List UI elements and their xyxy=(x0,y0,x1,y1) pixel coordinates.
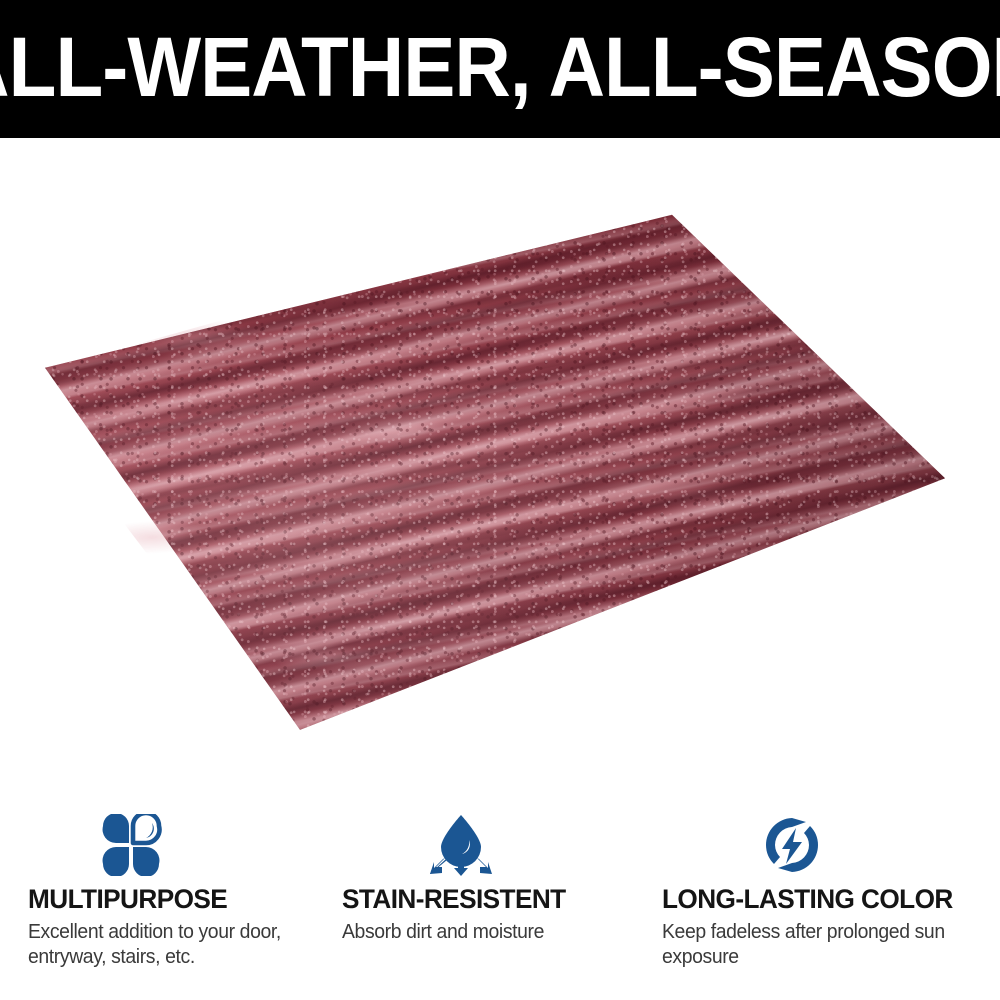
banner-title: ALL-WEATHER, ALL-SEASON xyxy=(0,25,1000,113)
feature-icon-wrap xyxy=(342,812,646,878)
water-droplet-arrows-icon xyxy=(424,813,498,877)
rug-fuzzy-edge xyxy=(0,138,1000,800)
feature-description: Excellent addition to your door, entrywa… xyxy=(28,920,321,970)
feature-title: LONG-LASTING COLOR xyxy=(662,884,990,915)
clover-multipurpose-icon xyxy=(100,814,166,876)
feature-row: MULTIPURPOSE Excellent addition to your … xyxy=(0,800,1000,1000)
feature-description: Keep fadeless after prolonged sun exposu… xyxy=(662,920,963,970)
refresh-bolt-icon xyxy=(760,814,824,876)
feature-title: STAIN-RESISTENT xyxy=(342,884,637,915)
feature-stain-resistent: STAIN-RESISTENT Absorb dirt and moisture xyxy=(330,800,646,1000)
feature-title: MULTIPURPOSE xyxy=(28,884,321,915)
feature-description: Absorb dirt and moisture xyxy=(342,920,637,945)
header-banner: ALL-WEATHER, ALL-SEASON xyxy=(0,0,1000,138)
feature-icon-wrap xyxy=(28,812,330,878)
rug-illustration xyxy=(0,138,1000,800)
feature-long-lasting-color: LONG-LASTING COLOR Keep fadeless after p… xyxy=(646,800,1000,1000)
feature-multipurpose: MULTIPURPOSE Excellent addition to your … xyxy=(0,800,330,1000)
feature-icon-wrap xyxy=(662,812,1000,878)
infographic-page: ALL-WEATHER, ALL-SEASON xyxy=(0,0,1000,1000)
product-hero-image xyxy=(0,138,1000,800)
